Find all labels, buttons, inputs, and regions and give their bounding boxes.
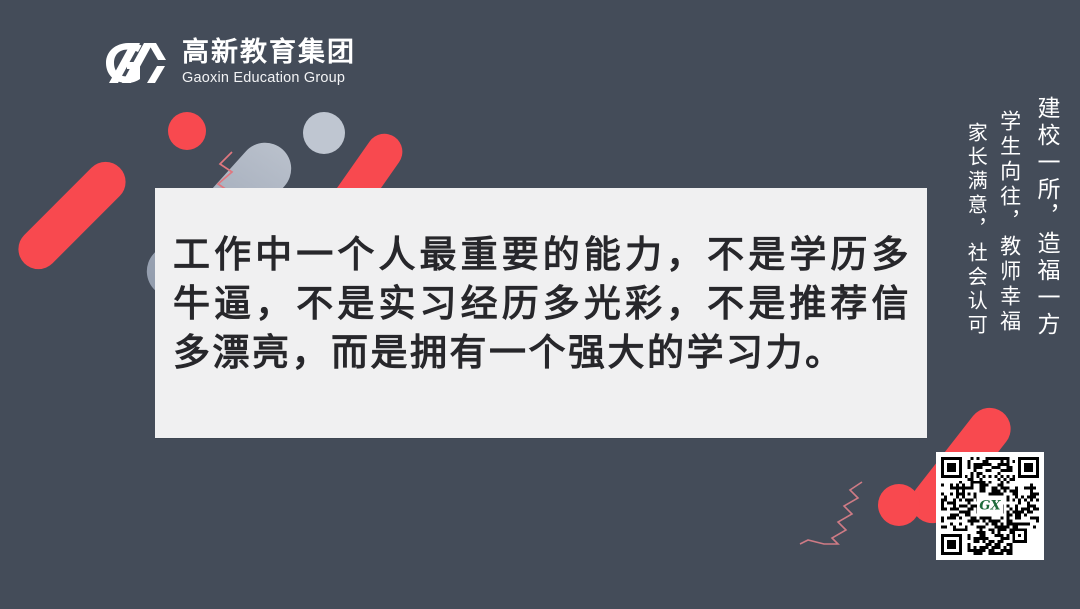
poster-canvas: 高新教育集团 Gaoxin Education Group 工作中一个人最重要的… <box>0 0 1080 609</box>
slogan-column-3: 家长满意，社会认可 <box>961 122 990 338</box>
quote-card: 工作中一个人最重要的能力，不是学历多牛逼，不是实习经历多光彩，不是推荐信多漂亮，… <box>155 188 927 438</box>
brand-name-block: 高新教育集团 Gaoxin Education Group <box>182 39 356 88</box>
brand-logo: 高新教育集团 Gaoxin Education Group <box>100 38 356 88</box>
brand-name-en: Gaoxin Education Group <box>182 69 356 88</box>
slogan-column-1: 建校一所，造福一方 <box>1029 96 1062 339</box>
qr-center-logo: GX <box>977 497 1003 516</box>
decor-red-capsule-left <box>10 154 134 278</box>
qr-code-image: GX <box>941 457 1039 555</box>
decor-red-circle-bottom-right <box>878 484 920 526</box>
decor-red-circle-top <box>168 112 206 150</box>
brand-name-cn: 高新教育集团 <box>182 39 356 67</box>
wechat-qr-code[interactable]: GX <box>936 452 1044 560</box>
quote-text: 工作中一个人最重要的能力，不是学历多牛逼，不是实习经历多光彩，不是推荐信多漂亮，… <box>173 230 911 377</box>
decor-zigzag-bottom-icon <box>796 480 866 551</box>
decor-gray-circle-top <box>303 112 345 154</box>
gx-monogram-icon <box>100 40 172 86</box>
slogan-group: 家长满意，社会认可 学生向往，教师幸福 建校一所，造福一方 <box>961 96 1062 339</box>
slogan-column-2: 学生向往，教师幸福 <box>994 110 1024 335</box>
